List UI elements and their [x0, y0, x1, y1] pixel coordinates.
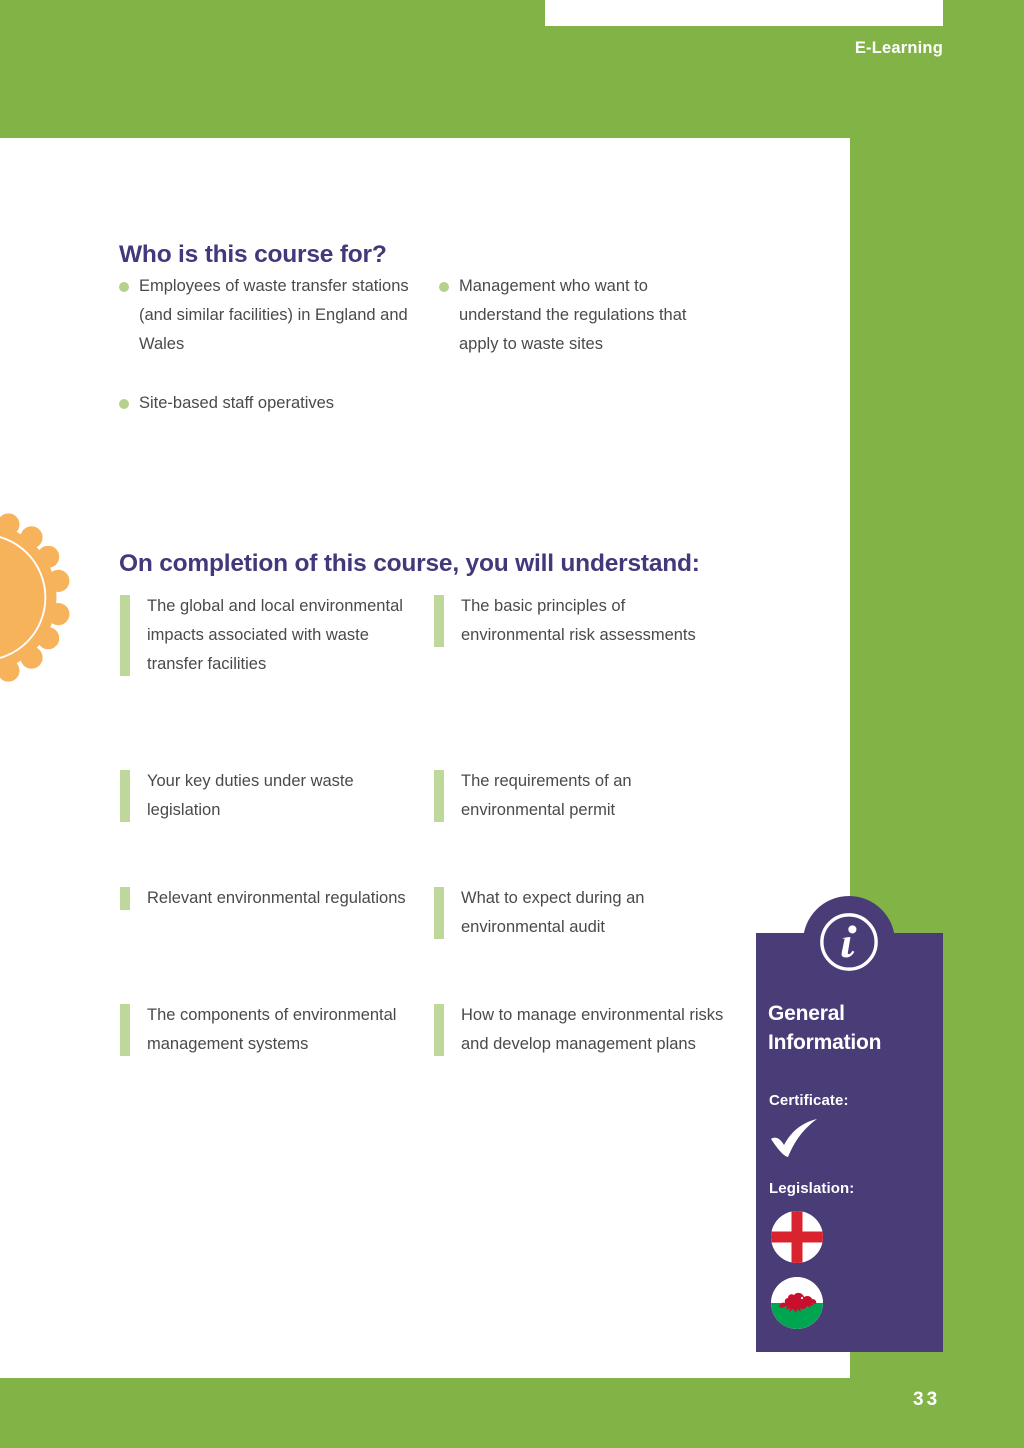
list-item: Site-based staff operatives — [119, 389, 409, 418]
list-item: Relevant environmental regulations — [120, 884, 417, 913]
outcomes-row: Relevant environmental regulations What … — [120, 884, 760, 1001]
outcomes-row: The components of environmental manageme… — [120, 1001, 760, 1111]
outcomes-row: Your key duties under waste legislation … — [120, 767, 760, 884]
list-item: What to expect during an environmental a… — [434, 884, 731, 942]
list-item-label: Employees of waste transfer stations (an… — [139, 277, 409, 353]
header-notch — [545, 0, 943, 26]
list-item: The components of environmental manageme… — [120, 1001, 417, 1059]
list-item: How to manage environmental risks and de… — [434, 1001, 731, 1059]
list-item-label: What to expect during an environmental a… — [461, 889, 644, 936]
list-item: The requirements of an environmental per… — [434, 767, 731, 825]
list-item: The basic principles of environmental ri… — [434, 592, 731, 650]
page-background: E-Learning — [0, 0, 1024, 1448]
list-item-label: Relevant environmental regulations — [147, 889, 406, 907]
page-title-audience: Who is this course for? — [119, 241, 387, 269]
list-item: The global and local environmental impac… — [120, 592, 417, 679]
audience-column-left: Employees of waste transfer stations (an… — [119, 272, 409, 448]
list-item-label: Management who want to understand the re… — [459, 277, 687, 353]
bullet-dot-icon — [439, 282, 449, 292]
list-item-label: Your key duties under waste legislation — [147, 772, 354, 819]
list-item-label: The global and local environmental impac… — [147, 597, 403, 673]
bullet-dot-icon — [119, 399, 129, 409]
outcomes-row: The global and local environmental impac… — [120, 592, 760, 767]
england-flag-icon — [771, 1211, 823, 1263]
outcomes-list: The global and local environmental impac… — [120, 592, 760, 1111]
page-number: 33 — [913, 1390, 940, 1409]
list-item-label: The basic principles of environmental ri… — [461, 597, 696, 644]
list-item: Employees of waste transfer stations (an… — [119, 272, 409, 359]
info-circle-icon — [818, 911, 880, 973]
check-mark-icon — [769, 1118, 823, 1160]
bullet-dot-icon — [119, 282, 129, 292]
wales-flag-icon — [771, 1277, 823, 1329]
list-item-label: Site-based staff operatives — [139, 394, 334, 412]
info-box-legislation-label: Legislation: — [769, 1181, 854, 1196]
list-item: Your key duties under waste legislation — [120, 767, 417, 825]
list-item-label: The requirements of an environmental per… — [461, 772, 632, 819]
info-box-title: General Information — [768, 999, 943, 1058]
list-item-label: How to manage environmental risks and de… — [461, 1006, 723, 1053]
info-box-certificate-label: Certificate: — [769, 1093, 849, 1108]
list-item-label: The components of environmental manageme… — [147, 1006, 396, 1053]
audience-column-right: Management who want to understand the re… — [439, 272, 729, 389]
page-title-outcomes: On completion of this course, you will u… — [119, 550, 700, 578]
header-label: E-Learning — [855, 40, 943, 57]
list-item: Management who want to understand the re… — [439, 272, 729, 359]
